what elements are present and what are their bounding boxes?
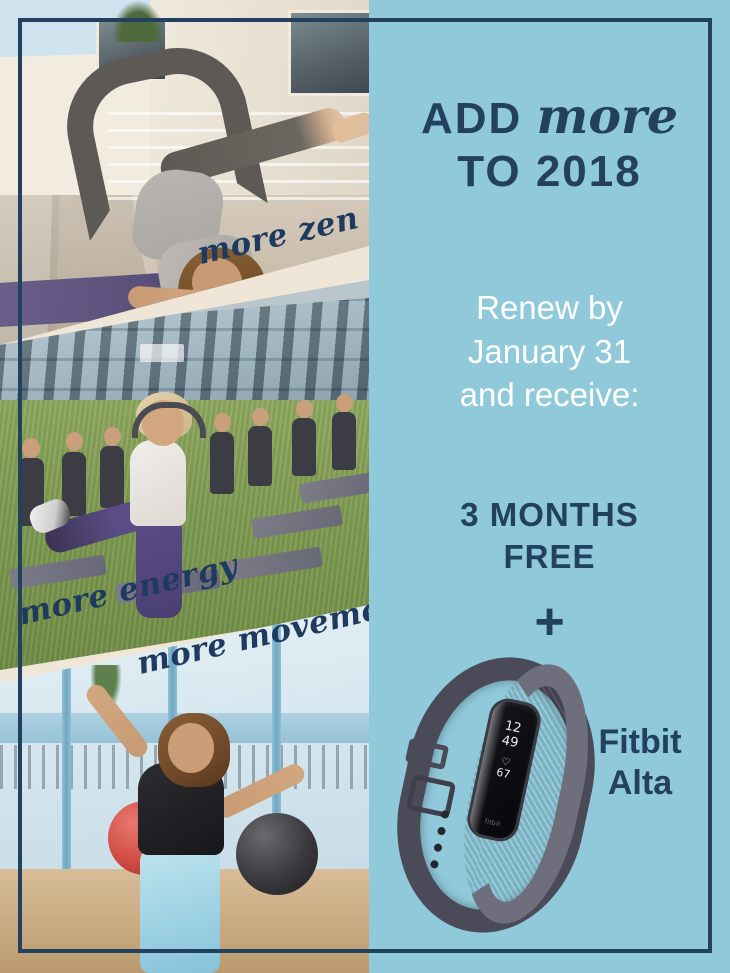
energy-class-member-head bbox=[214, 413, 231, 432]
photo-column bbox=[0, 0, 369, 973]
subheadline-line-3: and receive: bbox=[369, 373, 730, 417]
fitbit-band-hole bbox=[433, 843, 442, 852]
headline-more-word: more bbox=[537, 87, 679, 145]
headline: ADD more TO 2018 bbox=[369, 88, 730, 198]
energy-instructor-top bbox=[130, 440, 186, 526]
product-name: Fitbit Alta bbox=[560, 722, 720, 805]
energy-class-member-head bbox=[22, 438, 40, 458]
headline-line-2: TO 2018 bbox=[369, 146, 730, 198]
movement-exercise-ball-black bbox=[236, 813, 318, 895]
energy-class-member-head bbox=[104, 427, 121, 446]
zen-palm-tree bbox=[112, 0, 164, 42]
offer-line-2: FREE bbox=[369, 536, 730, 578]
energy-class-member bbox=[292, 418, 316, 476]
movement-dancer-leggings bbox=[140, 847, 220, 973]
promo-flyer: more zen more energy more movement ADD m… bbox=[0, 0, 730, 973]
energy-building-sign bbox=[140, 344, 184, 362]
plus-icon: + bbox=[369, 596, 730, 648]
subheadline-line-2: January 31 bbox=[369, 330, 730, 374]
energy-class-member bbox=[332, 412, 356, 470]
movement-dancer-head bbox=[168, 723, 214, 773]
energy-class-member-head bbox=[336, 394, 353, 412]
headline-add-word: ADD bbox=[421, 94, 522, 143]
zen-yogi bbox=[40, 42, 340, 292]
energy-class-member bbox=[100, 446, 124, 508]
offer-line-1: 3 MONTHS bbox=[369, 494, 730, 536]
energy-class-member bbox=[210, 432, 234, 494]
energy-class-member-head bbox=[296, 400, 313, 418]
offer-text: 3 MONTHS FREE bbox=[369, 494, 730, 578]
product-name-line-2: Alta bbox=[560, 763, 720, 804]
fitbit-band-hole bbox=[430, 860, 439, 869]
energy-class-member-head bbox=[66, 432, 83, 451]
fitbit-band-hole bbox=[440, 810, 449, 819]
energy-class-member-head bbox=[252, 408, 269, 426]
product-name-line-1: Fitbit bbox=[560, 722, 720, 763]
subheadline: Renew by January 31 and receive: bbox=[369, 286, 730, 417]
fitbit-alta-product-image: 12 49 ♡ 67 fitbit bbox=[385, 650, 575, 900]
subheadline-line-1: Renew by bbox=[369, 286, 730, 330]
headline-line-1: ADD more bbox=[369, 88, 730, 146]
energy-class-member bbox=[248, 426, 272, 486]
fitbit-band-hole bbox=[437, 826, 446, 835]
